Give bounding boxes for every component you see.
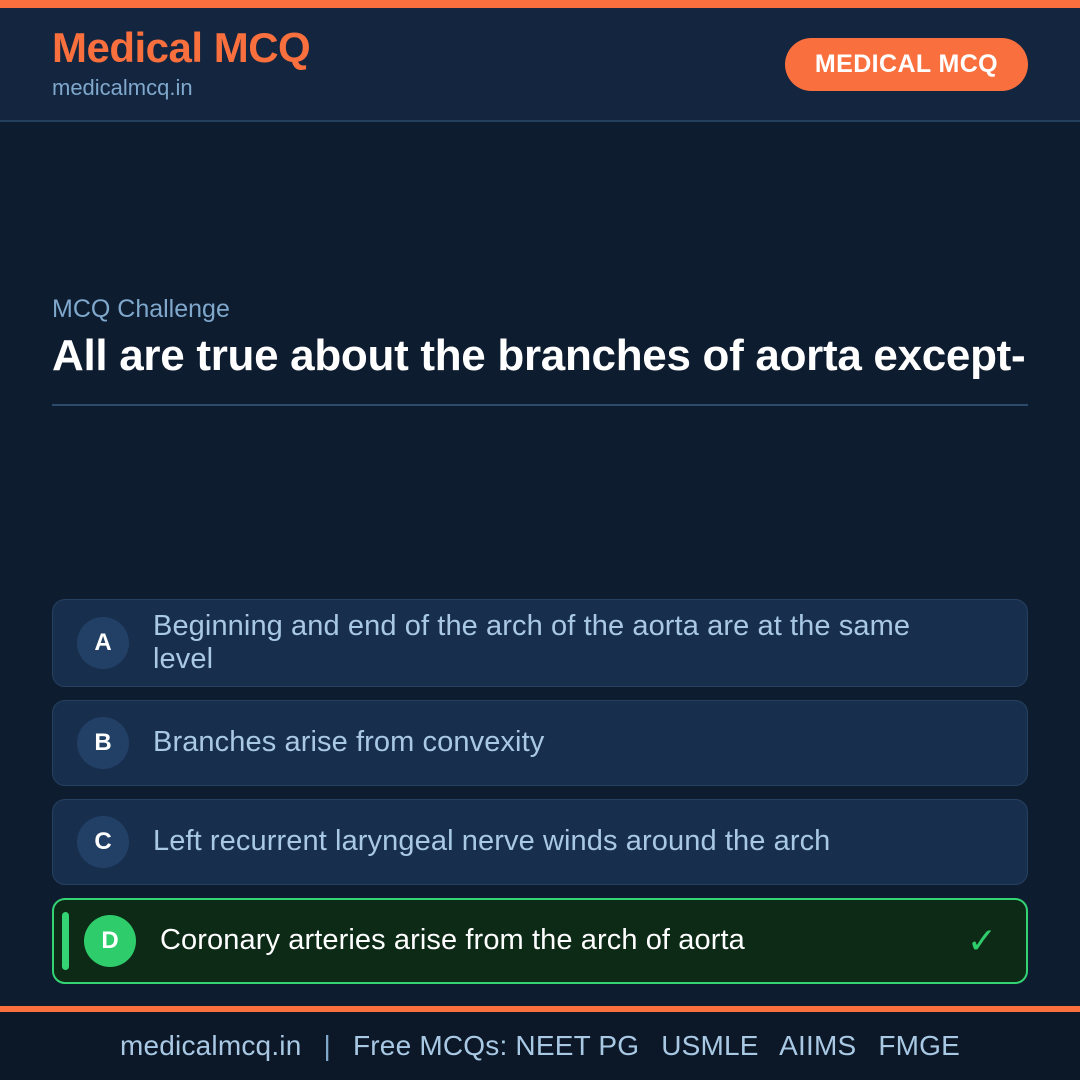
- header-badge: MEDICAL MCQ: [785, 38, 1028, 91]
- footer-prefix: Free MCQs:: [353, 1030, 507, 1061]
- question-label: MCQ Challenge: [52, 294, 1028, 324]
- option-b[interactable]: B Branches arise from convexity ✓: [52, 700, 1028, 786]
- footer-exam-fmge: FMGE: [878, 1030, 960, 1061]
- option-letter-badge: D: [84, 915, 136, 967]
- footer-separator: |: [310, 1030, 345, 1061]
- brand: Medical MCQ medicalmcq.in: [52, 26, 310, 103]
- main-content: MCQ Challenge All are true about the bra…: [0, 122, 1080, 1006]
- option-c[interactable]: C Left recurrent laryngeal nerve winds a…: [52, 799, 1028, 885]
- header: Medical MCQ medicalmcq.in MEDICAL MCQ: [0, 8, 1080, 122]
- footer-exam-list: NEET PG USMLE AIIMS FMGE: [515, 1030, 960, 1061]
- footer-site: medicalmcq.in: [120, 1030, 302, 1061]
- option-letter-badge: B: [77, 717, 129, 769]
- question-text: All are true about the branches of aorta…: [52, 330, 1028, 382]
- option-letter-badge: A: [77, 617, 129, 669]
- mcq-card: Medical MCQ medicalmcq.in MEDICAL MCQ MC…: [0, 0, 1080, 1080]
- option-text: Coronary arteries arise from the arch of…: [160, 924, 960, 957]
- question-block: MCQ Challenge All are true about the bra…: [52, 294, 1028, 406]
- option-d[interactable]: D Coronary arteries arise from the arch …: [52, 898, 1028, 984]
- brand-title: Medical MCQ: [52, 26, 310, 70]
- footer-exam-usmle: USMLE: [661, 1030, 758, 1061]
- footer-exam-neetpg: NEET PG: [515, 1030, 639, 1061]
- footer-exam-aiims: AIIMS: [779, 1030, 856, 1061]
- brand-subtitle: medicalmcq.in: [52, 74, 310, 103]
- options-list: A Beginning and end of the arch of the a…: [52, 599, 1028, 997]
- option-text: Branches arise from convexity: [153, 726, 961, 759]
- footer: medicalmcq.in | Free MCQs: NEET PG USMLE…: [0, 1006, 1080, 1080]
- footer-text: medicalmcq.in | Free MCQs: NEET PG USMLE…: [120, 1030, 960, 1062]
- correct-accent-bar: [62, 912, 69, 970]
- top-accent-bar: [0, 0, 1080, 8]
- option-text: Beginning and end of the arch of the aor…: [153, 610, 961, 676]
- check-icon: ✓: [960, 923, 1004, 959]
- option-text: Left recurrent laryngeal nerve winds aro…: [153, 825, 961, 858]
- option-letter-badge: C: [77, 816, 129, 868]
- question-divider: [52, 404, 1028, 406]
- option-a[interactable]: A Beginning and end of the arch of the a…: [52, 599, 1028, 687]
